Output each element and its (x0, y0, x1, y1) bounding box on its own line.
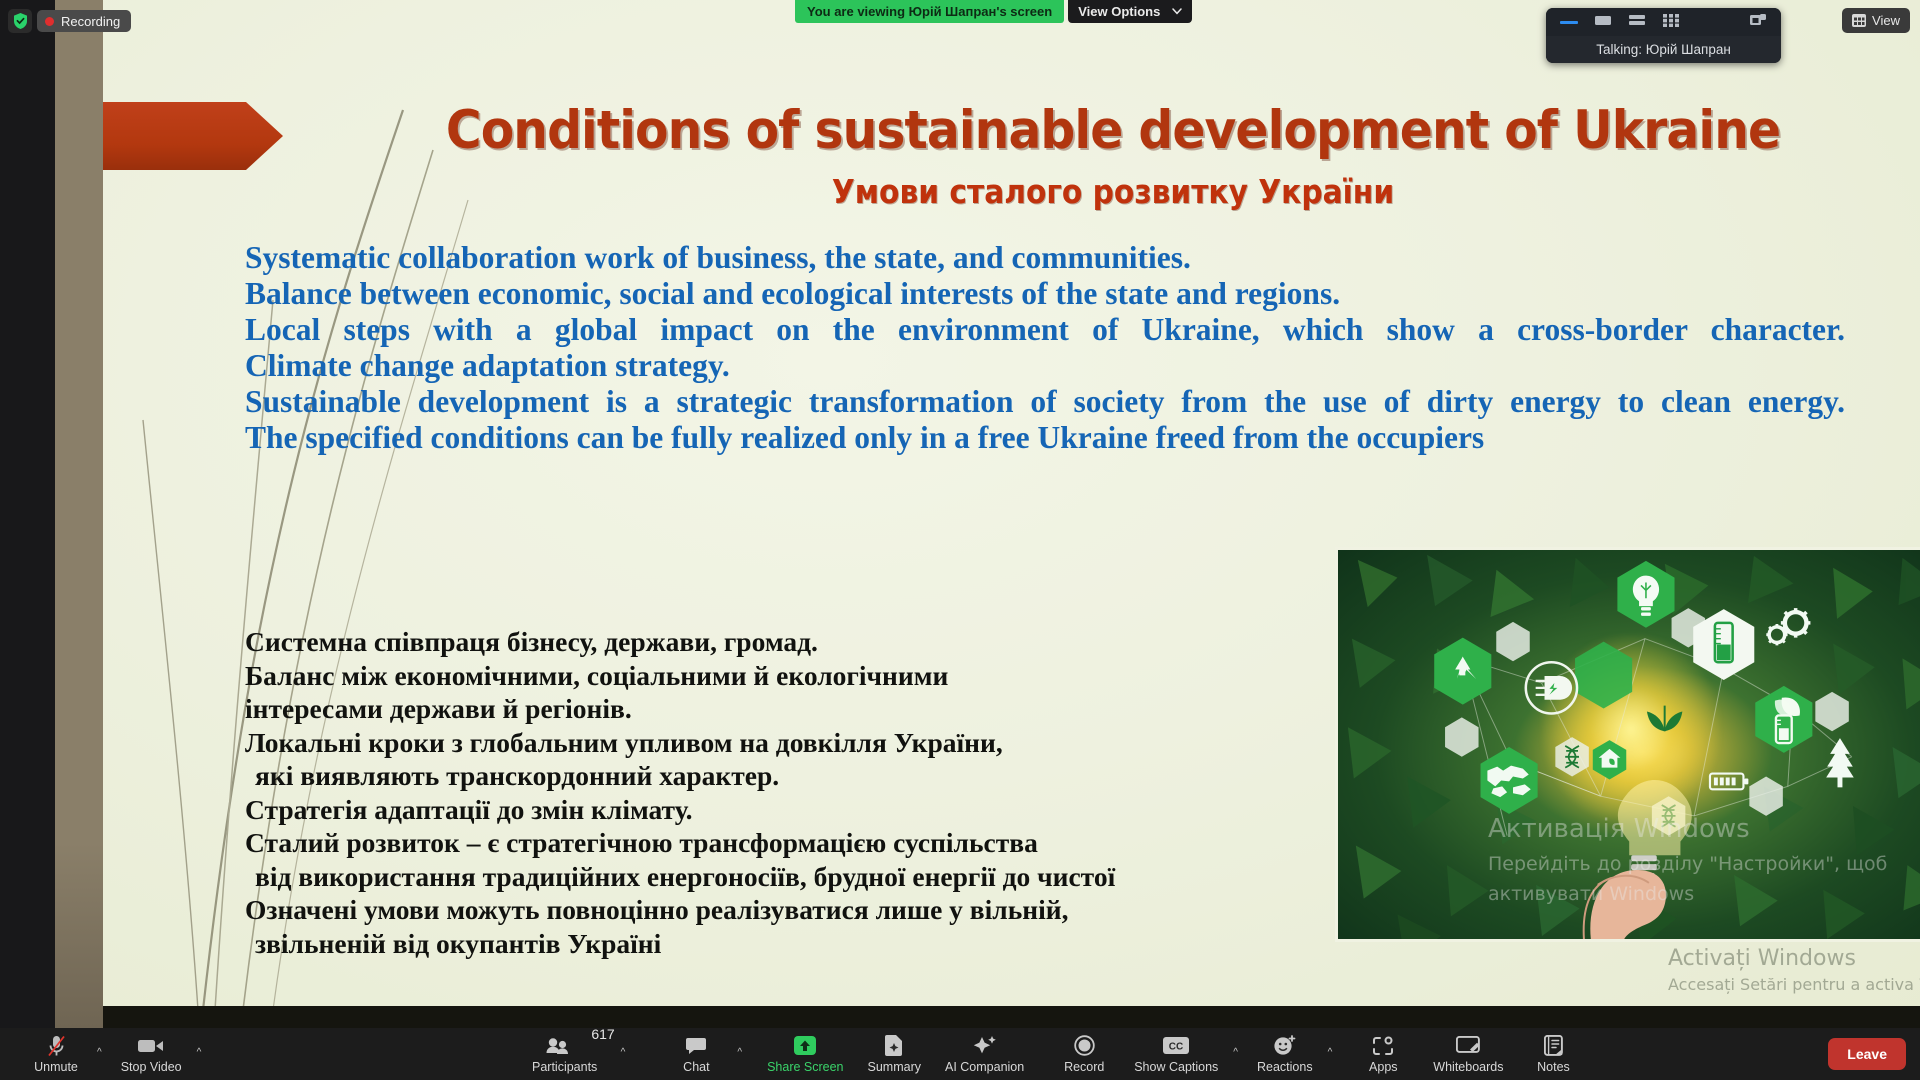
body-en-line-2: Balance between economic, social and eco… (245, 276, 1845, 312)
camera-icon (138, 1035, 164, 1057)
smiley-plus-icon (1273, 1035, 1296, 1057)
unmute-button[interactable]: Unmute (18, 1035, 94, 1074)
slide-title-ukrainian: Умови сталого розвитку України (411, 172, 1815, 211)
captions-caret-icon[interactable]: ^ (1226, 1047, 1245, 1058)
summary-label: Summary (868, 1060, 921, 1074)
body-uk-line-6: Стратегія адаптації до змін клімату. (245, 793, 1325, 827)
summary-button[interactable]: Summary (856, 1035, 933, 1074)
body-uk-line-4: Локальні кроки з глобальним упливом на д… (245, 726, 1325, 760)
toolbar-center-group: Participants 617 ^ Chat ^ (520, 1035, 1591, 1074)
apps-icon (1372, 1035, 1394, 1057)
screen-share-banner: You are viewing Юрій Шапран's screen Vie… (795, 0, 1192, 23)
body-uk-line-2: Баланс між економічними, соціальними й е… (245, 659, 1325, 693)
notes-button[interactable]: Notes (1515, 1035, 1591, 1074)
stop-video-button[interactable]: Stop Video (109, 1035, 194, 1074)
show-captions-button[interactable]: CC Show Captions (1122, 1035, 1230, 1074)
chevron-down-icon (1172, 8, 1182, 15)
body-en-line-6: The specified conditions can be fully re… (245, 420, 1845, 456)
record-button[interactable]: Record (1046, 1035, 1122, 1074)
audio-control-group: Unmute ^ (18, 1035, 109, 1074)
whiteboards-button[interactable]: Whiteboards (1421, 1035, 1515, 1074)
sustainability-photo: Активація Windows Перейдіть до розділу "… (1335, 547, 1920, 942)
body-uk-line-1: Системна співпраця бізнесу, держави, гро… (245, 625, 1325, 659)
chat-caret-icon[interactable]: ^ (730, 1047, 749, 1058)
participants-icon (545, 1035, 585, 1057)
view-options-button[interactable]: View Options (1068, 0, 1192, 23)
body-en-line-3: Local steps with a global impact on the … (245, 312, 1845, 348)
gallery-view-icon[interactable] (1628, 13, 1646, 32)
recording-dot-icon (45, 17, 54, 26)
body-uk-line-8: від використання традиційних енергоносії… (245, 860, 1325, 894)
wm-ro-line-1: Activați Windows (1668, 945, 1920, 973)
presentation-slide: Conditions of sustainable development of… (103, 0, 1920, 1028)
apps-label: Apps (1369, 1060, 1398, 1074)
share-screen-label: Share Screen (767, 1060, 843, 1074)
cc-icon: CC (1163, 1035, 1189, 1057)
participants-count: 617 (591, 1026, 614, 1042)
sparkles-icon (973, 1035, 997, 1057)
wm-ro-line-2: Accesați Setări pentru a activa Windows. (1668, 973, 1920, 997)
microphone-muted-icon (47, 1035, 66, 1057)
meeting-toolbar: Unmute ^ Stop Video ^ (0, 1028, 1920, 1080)
reactions-label: Reactions (1257, 1060, 1313, 1074)
show-captions-label: Show Captions (1134, 1060, 1218, 1074)
share-screen-button[interactable]: Share Screen (755, 1035, 855, 1074)
participants-caret-icon[interactable]: ^ (614, 1047, 633, 1058)
body-uk-line-9: Означені умови можуть повноцінно реалізу… (245, 893, 1325, 927)
chat-button[interactable]: Chat (658, 1035, 734, 1074)
reactions-caret-icon[interactable]: ^ (1321, 1047, 1340, 1058)
talking-indicator: Talking: Юрій Шапран (1546, 36, 1781, 63)
record-circle-icon (1074, 1035, 1095, 1057)
body-uk-line-7: Сталий розвиток – є стратегічною трансфо… (245, 826, 1325, 860)
notes-label: Notes (1537, 1060, 1570, 1074)
slide-body-english: Systematic collaboration work of busines… (245, 240, 1845, 456)
captions-group: CC Show Captions ^ (1122, 1035, 1245, 1074)
participants-group: Participants 617 ^ (520, 1035, 652, 1074)
popout-window-icon[interactable] (1749, 13, 1767, 32)
view-options-label: View Options (1078, 4, 1160, 19)
ai-companion-label: AI Companion (945, 1060, 1024, 1074)
audio-options-caret-icon[interactable]: ^ (90, 1047, 109, 1058)
chat-bubble-icon (686, 1035, 706, 1057)
slide-body-ukrainian: Системна співпраця бізнесу, держави, гро… (245, 625, 1325, 960)
grid-icon (1852, 14, 1866, 27)
body-uk-line-3: інтересами держави й регіонів. (245, 692, 1325, 726)
body-en-line-4: Climate change adaptation strategy. (245, 348, 1845, 384)
view-button-label: View (1872, 13, 1900, 28)
share-screen-icon (793, 1035, 817, 1057)
whiteboards-label: Whiteboards (1433, 1060, 1503, 1074)
participant-video-panel: Talking: Юрій Шапран (1546, 8, 1781, 63)
reactions-group: Reactions ^ (1245, 1035, 1339, 1074)
leave-button[interactable]: Leave (1828, 1038, 1906, 1070)
grid-view-icon[interactable] (1662, 13, 1680, 32)
record-label: Record (1064, 1060, 1104, 1074)
participants-label: Participants (532, 1060, 597, 1074)
video-options-caret-icon[interactable]: ^ (190, 1047, 209, 1058)
body-en-line-5: Sustainable development is a strategic t… (245, 384, 1845, 420)
reactions-button[interactable]: Reactions (1245, 1035, 1325, 1074)
recording-label: Recording (61, 14, 120, 29)
windows-activation-watermark-ro: Activați Windows Accesați Setări pentru … (1668, 945, 1920, 997)
encryption-shield-icon[interactable] (8, 9, 32, 33)
toolbar-right-group: Leave (1828, 1038, 1906, 1070)
notes-icon (1544, 1035, 1563, 1057)
stop-video-label: Stop Video (121, 1060, 182, 1074)
left-tan-strip (55, 0, 103, 1028)
panel-layout-controls (1546, 8, 1781, 36)
hand-holding-bulb (1338, 550, 1920, 939)
toolbar-left-group: Unmute ^ Stop Video ^ (18, 1035, 208, 1074)
minimize-view-icon[interactable] (1560, 13, 1578, 32)
shared-screen-stage: Conditions of sustainable development of… (0, 0, 1920, 1028)
zoom-meeting-window: Conditions of sustainable development of… (0, 0, 1920, 1080)
ai-companion-button[interactable]: AI Companion (933, 1035, 1036, 1074)
view-layout-button[interactable]: View (1842, 8, 1910, 33)
body-uk-line-5: які виявляють транскордонний характер. (245, 759, 1325, 793)
chat-group: Chat ^ (658, 1035, 749, 1074)
svg-text:CC: CC (1169, 1042, 1183, 1053)
slide-title-english: Conditions of sustainable development of… (395, 100, 1830, 161)
chat-label: Chat (683, 1060, 709, 1074)
video-control-group: Stop Video ^ (109, 1035, 209, 1074)
summary-doc-icon (885, 1035, 903, 1057)
talking-label: Talking: Юрій Шапран (1596, 42, 1731, 57)
unmute-label: Unmute (34, 1060, 78, 1074)
whiteboard-icon (1456, 1035, 1480, 1057)
red-arrow-banner (103, 102, 283, 170)
viewing-screen-label: You are viewing Юрій Шапран's screen (795, 0, 1064, 23)
left-dark-gutter (0, 0, 55, 1028)
body-en-line-1: Systematic collaboration work of busines… (245, 240, 1845, 276)
apps-button[interactable]: Apps (1345, 1035, 1421, 1074)
recording-badge[interactable]: Recording (37, 10, 131, 32)
speaker-view-icon[interactable] (1594, 13, 1612, 32)
body-uk-line-10: звільненій від окупантів Україні (245, 927, 1325, 961)
